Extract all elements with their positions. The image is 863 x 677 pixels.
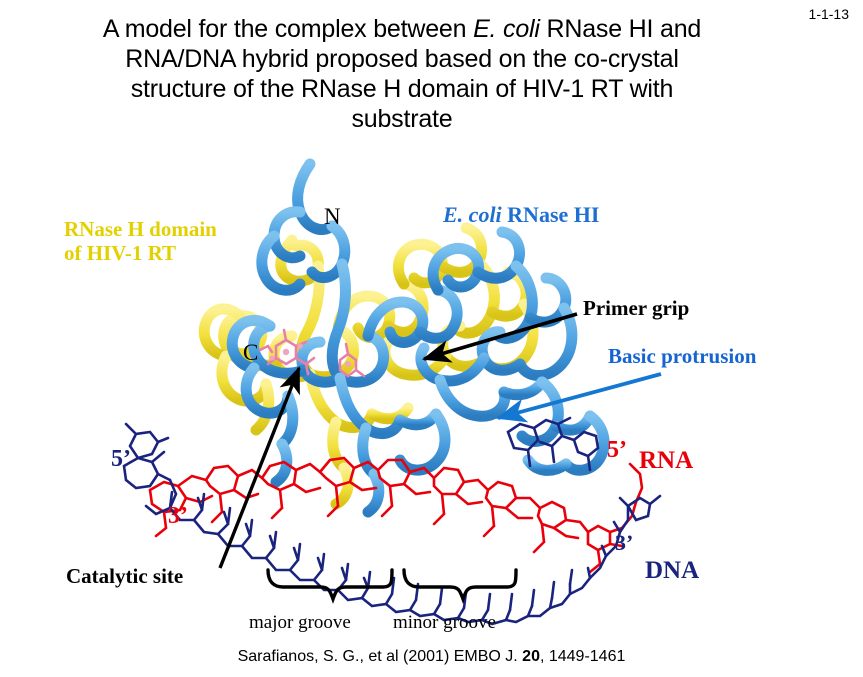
label-basic-protrusion: Basic protrusion: [608, 345, 756, 369]
label-primer-grip: Primer grip: [583, 297, 689, 321]
ecoli-protein-name: RNase HI: [502, 202, 600, 227]
label-rna: RNA: [639, 447, 693, 475]
slide-canvas: 1-1-13 A model for the complex between E…: [0, 0, 863, 677]
label-dna-five-prime-left: 5’: [111, 446, 131, 473]
citation-authors: Sarafianos, S. G., et al (2001) EMBO J.: [238, 648, 523, 665]
hiv-domain-line2: of HIV-1 RT: [64, 241, 176, 265]
title-segment-2: RNase HI and: [540, 15, 701, 43]
label-minor-groove: minor groove: [393, 612, 496, 634]
citation: Sarafianos, S. G., et al (2001) EMBO J. …: [0, 648, 863, 666]
label-ecoli-rnase-hi: E. coli RNase HI: [443, 203, 599, 228]
title-segment-5: substrate: [351, 105, 452, 133]
label-dna: DNA: [645, 557, 699, 585]
ecoli-species-name: E. coli: [443, 202, 502, 227]
label-catalytic-site: Catalytic site: [66, 565, 183, 589]
title-segment-1: A model for the complex between: [103, 15, 473, 43]
title-segment-3: RNA/DNA hybrid proposed based on the co-…: [125, 45, 678, 73]
major-groove-brace: [268, 570, 392, 599]
title-segment-4: structure of the RNase H domain of HIV-1…: [131, 75, 674, 103]
label-rna-five-prime: 5’: [607, 437, 627, 464]
minor-groove-brace: [404, 570, 516, 599]
label-n-terminus: N: [324, 204, 341, 230]
label-major-groove: major groove: [249, 612, 351, 634]
slide-number: 1-1-13: [809, 6, 849, 22]
label-rna-three-prime-left: 3’: [168, 503, 188, 530]
label-hiv-rnase-h-domain: RNase H domain of HIV-1 RT: [64, 218, 217, 265]
hiv-domain-line1: RNase H domain: [64, 217, 217, 241]
label-c-terminus: C: [243, 340, 258, 366]
citation-pages: , 1449-1461: [540, 648, 625, 665]
page-title: A model for the complex between E. coli …: [22, 14, 782, 134]
label-dna-three-prime: 3’: [615, 531, 633, 556]
citation-volume: 20: [522, 648, 540, 665]
title-segment-italic: E. coli: [473, 15, 540, 43]
